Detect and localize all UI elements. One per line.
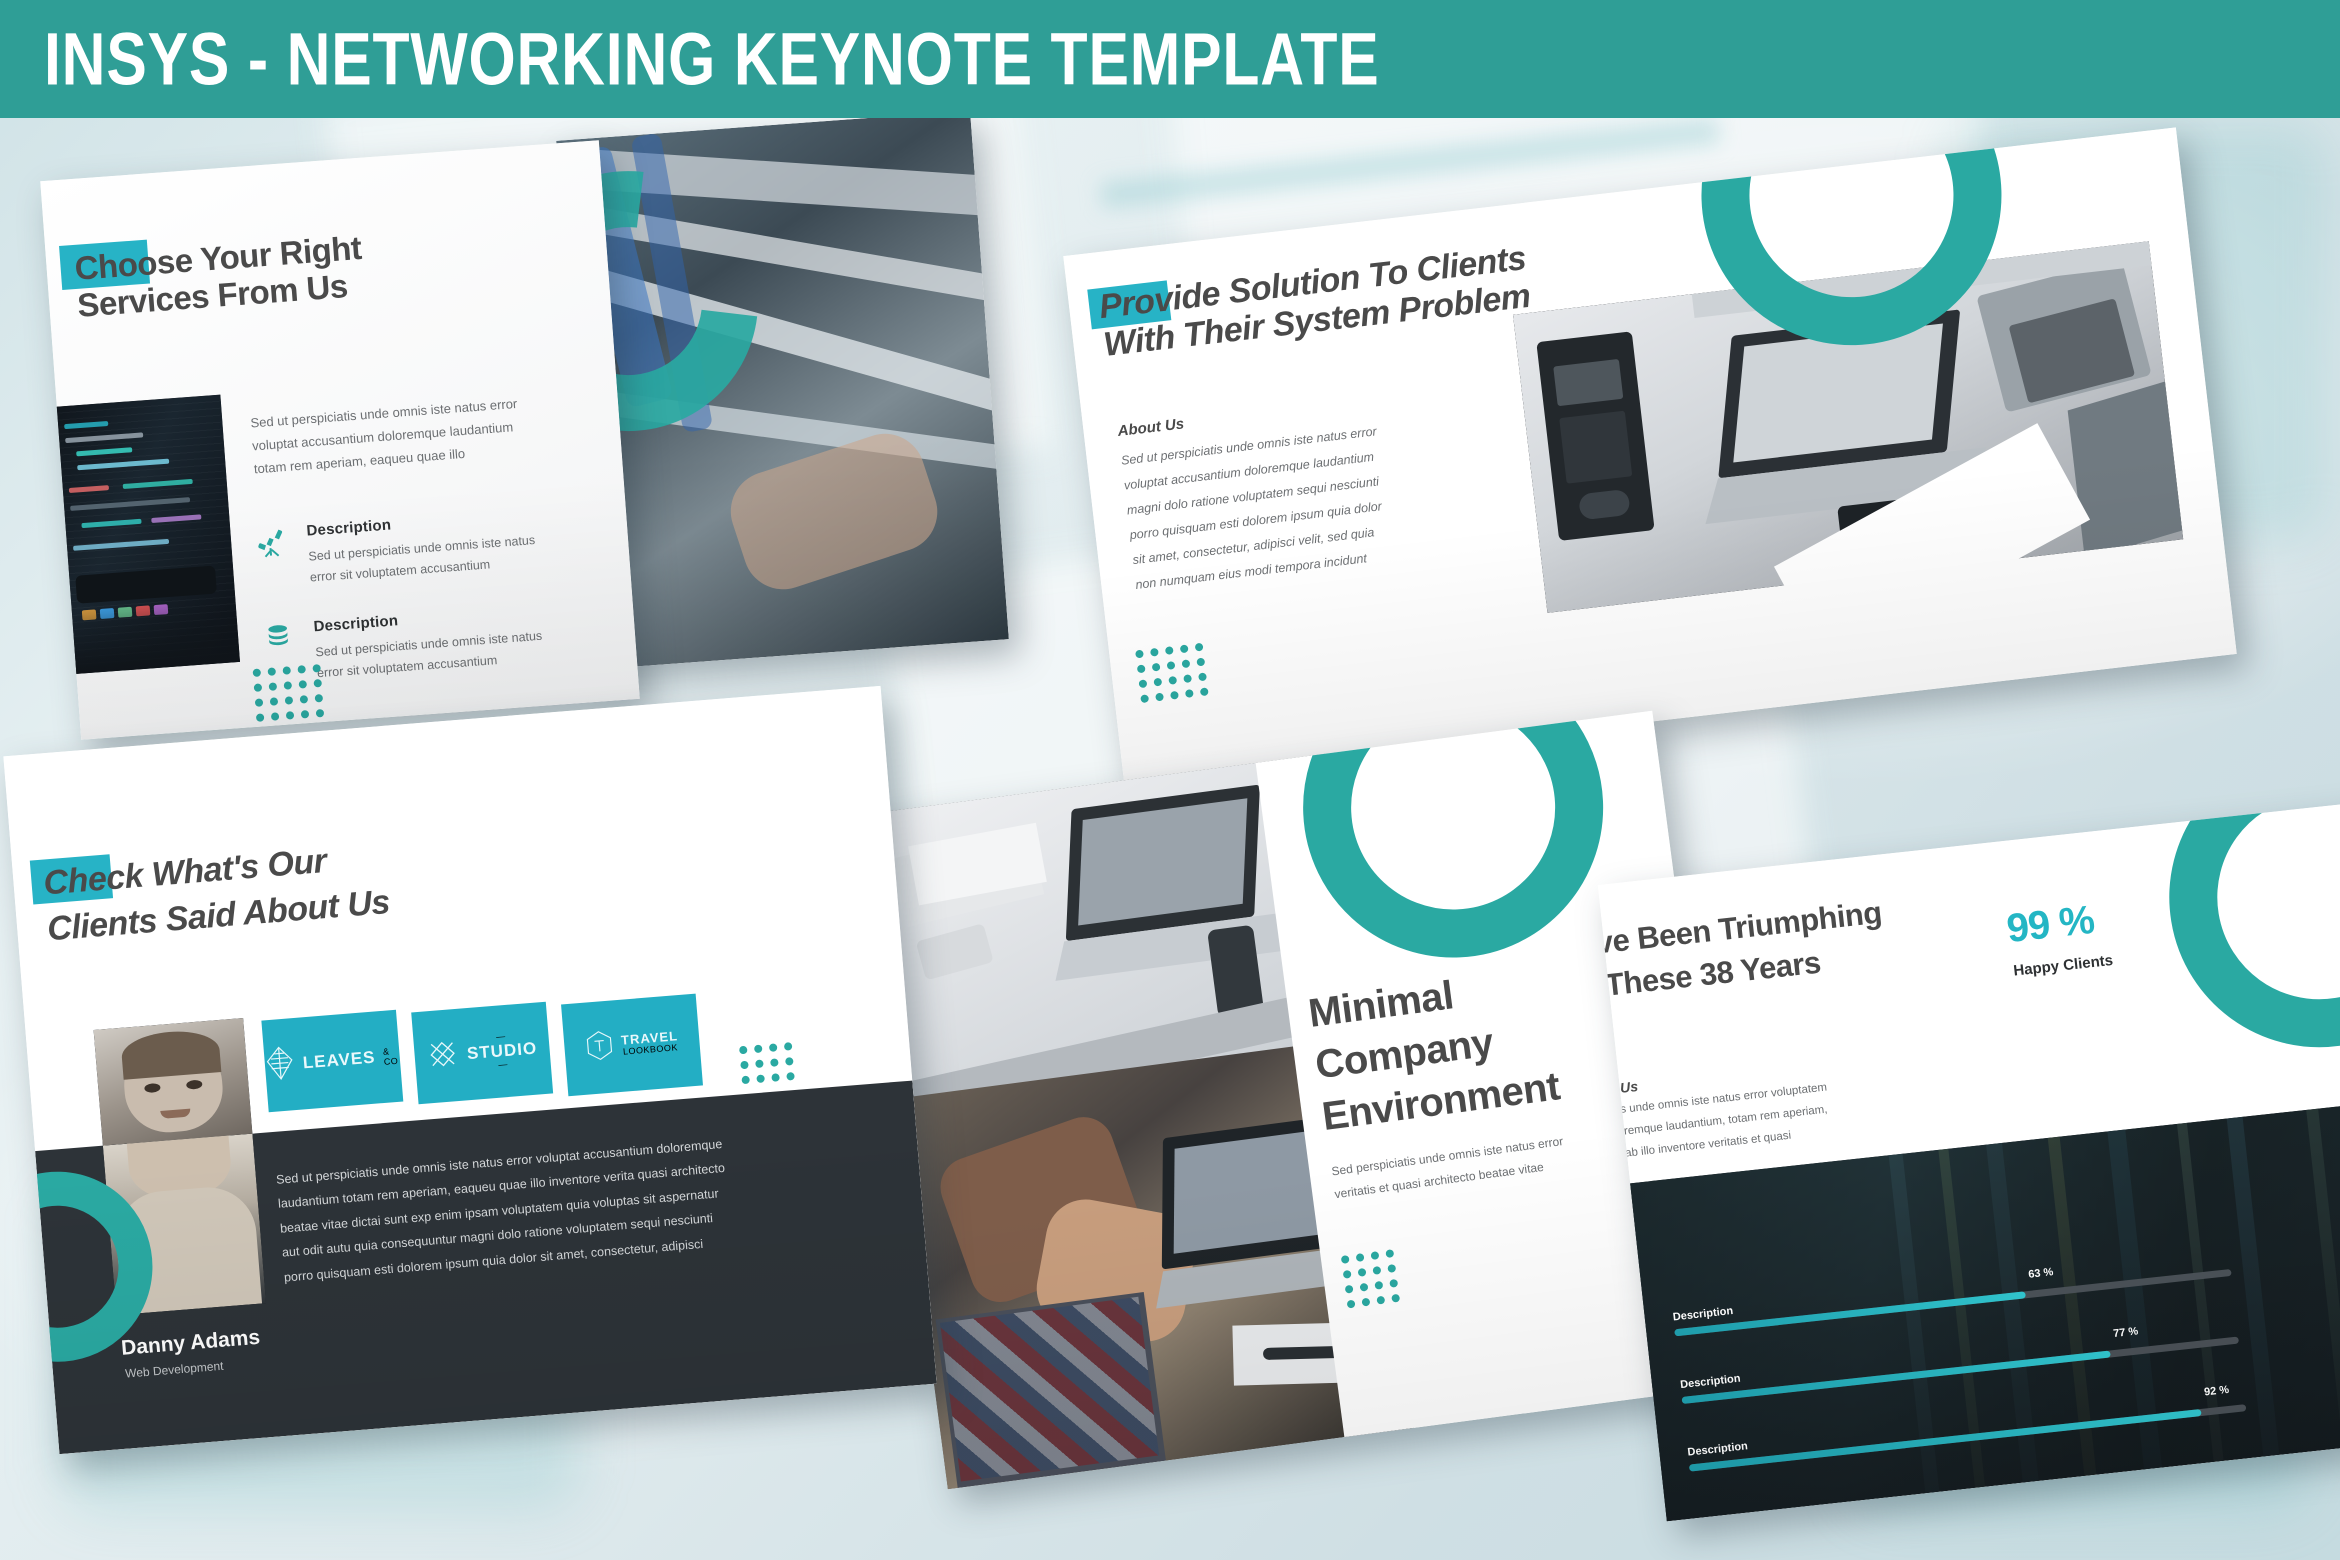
slide-environment: Minimal Company Environment Sed perspici…	[859, 711, 1741, 1490]
slide-triumphing: We've Been Triumphing For These 38 Years…	[1598, 799, 2340, 1522]
leaves-logo-mark	[263, 1045, 296, 1086]
travel-logo-mark	[584, 1029, 615, 1066]
studio-rule-bottom: —	[498, 1060, 508, 1071]
client-logo-tile: TRAVEL LOOKBOOK	[561, 994, 703, 1097]
dot-pattern	[1135, 643, 1209, 703]
telescope-icon	[254, 526, 286, 563]
slide-services: Choose Your Right Services From Us	[40, 140, 640, 740]
happy-clients-value: 99 %	[2005, 898, 2097, 952]
header-banner: INSYS - NETWORKING KEYNOTE TEMPLATE	[0, 0, 2340, 118]
database-icon	[263, 622, 293, 657]
studio-logo-mark	[426, 1036, 461, 1075]
client-logo-tile: — STUDIO —	[411, 1002, 553, 1105]
dot-pattern	[253, 664, 325, 722]
client-logo-suffix: LOOKBOOK	[623, 1043, 679, 1057]
page-title: INSYS - NETWORKING KEYNOTE TEMPLATE	[44, 17, 1380, 102]
code-screen-photo	[51, 395, 240, 675]
poster-stage: INSYS - NETWORKING KEYNOTE TEMPLATE Choo…	[0, 0, 2340, 1560]
dot-pattern	[739, 1042, 795, 1084]
dot-pattern	[1341, 1249, 1400, 1308]
client-logo-suffix: & CO	[383, 1046, 401, 1067]
client-logo-label: LEAVES	[302, 1048, 376, 1074]
client-logo-tile: LEAVES & CO	[261, 1010, 403, 1113]
slide-testimonial: Check What's Our Clients Said About Us	[3, 686, 936, 1454]
